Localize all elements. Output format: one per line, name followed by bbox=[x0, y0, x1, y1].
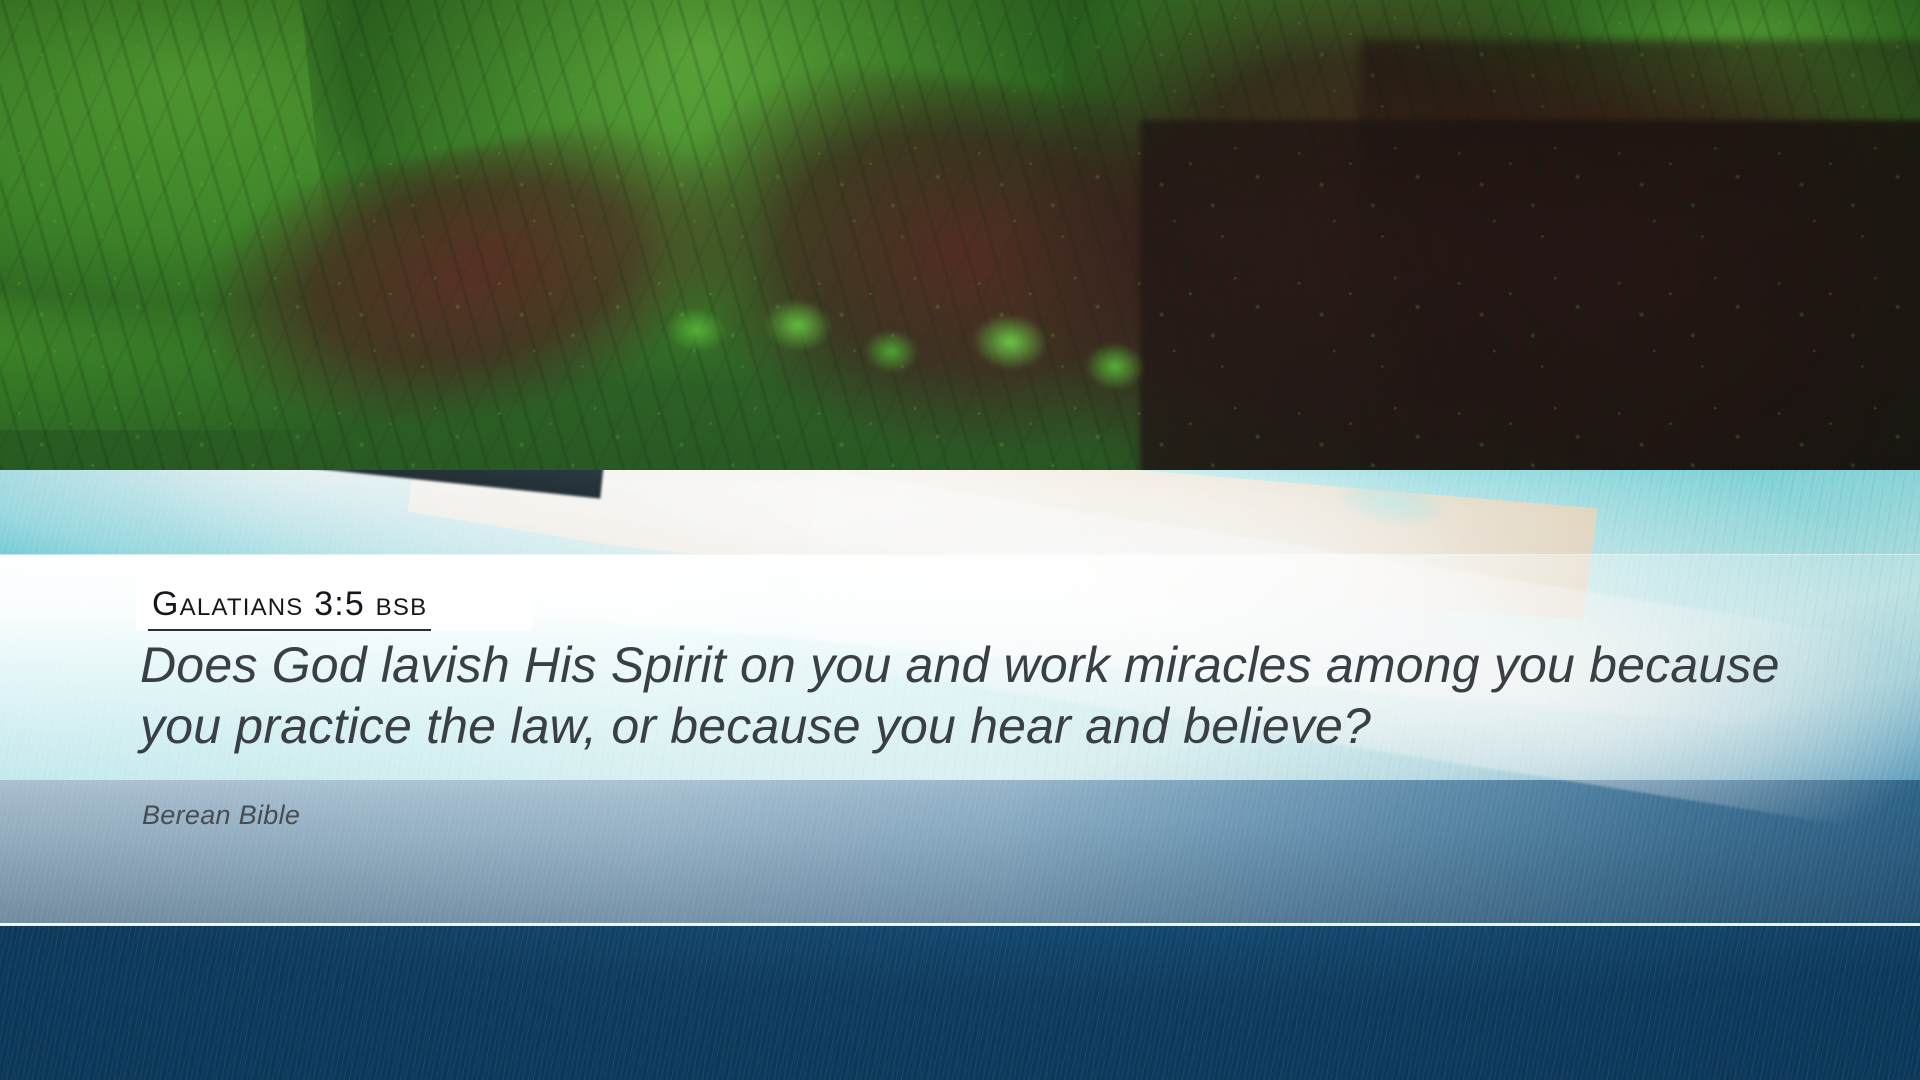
verse-text: Does God lavish His Spirit on you and wo… bbox=[140, 635, 1780, 757]
verse-card: Galatians 3:5 BSB Does God lavish His Sp… bbox=[0, 555, 1920, 925]
wallpaper-stage: Galatians 3:5 BSB Does God lavish His Sp… bbox=[0, 0, 1920, 1080]
verse-attribution: Berean Bible bbox=[142, 798, 300, 832]
coastal-cliffs bbox=[0, 0, 1920, 470]
verse-reference-wrap: Galatians 3:5 BSB bbox=[148, 581, 431, 627]
verse-reference: Galatians 3:5 BSB bbox=[148, 581, 431, 631]
foliage-speckle bbox=[0, 0, 1920, 470]
